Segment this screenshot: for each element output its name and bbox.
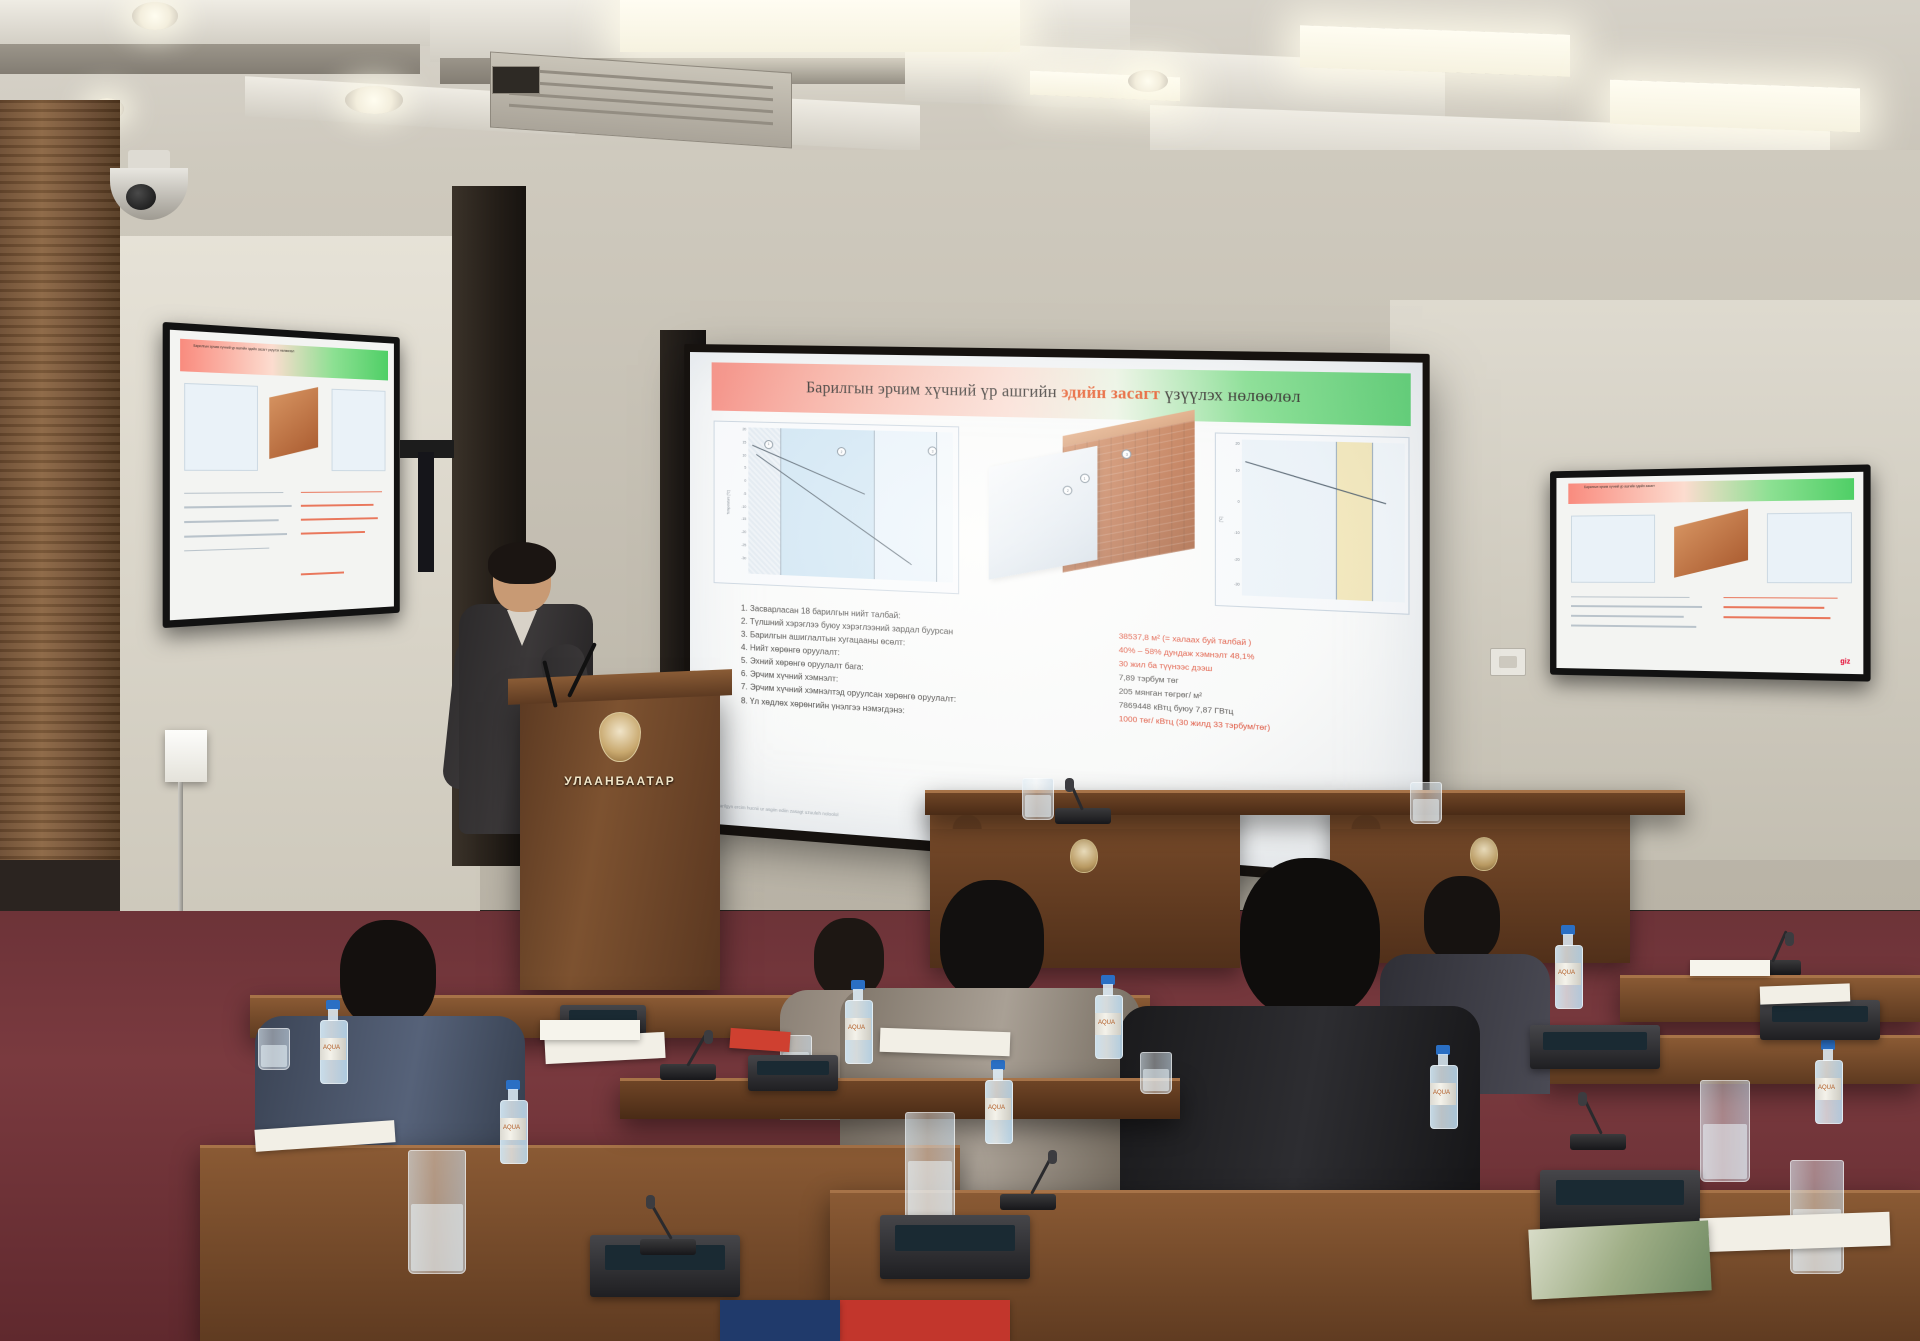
monitor-giz-logo: giz bbox=[1840, 659, 1850, 666]
monitor-arm bbox=[418, 452, 434, 572]
chart-plot-area bbox=[1242, 439, 1405, 603]
slide-title-banner: Барилгын эрчим хүчний үр ашгийн эдийн за… bbox=[711, 363, 1411, 427]
layer-band-inner bbox=[936, 432, 953, 583]
speaker-podium: УЛААНБААТАР bbox=[520, 690, 720, 990]
delegate-console[interactable] bbox=[1760, 1000, 1880, 1040]
y-tick: -30 bbox=[741, 556, 746, 560]
y-tick: -20 bbox=[1234, 558, 1240, 563]
temperature-chart-right: [°C] 20 10 0 -10 -20 -30 bbox=[1214, 433, 1409, 615]
monitor-text-line bbox=[185, 533, 288, 537]
monitor-stat-line bbox=[1723, 616, 1830, 619]
mid-table bbox=[620, 1078, 1180, 1119]
chart-plot-area: 1 2 3 bbox=[748, 427, 953, 583]
monitor-slide-banner: Барилгын эрчим хүчний үр ашгийн эдийн за… bbox=[180, 339, 388, 380]
ceiling-spotlight bbox=[1128, 70, 1168, 92]
monitor-stat-line bbox=[1723, 606, 1824, 608]
monitor-text-line bbox=[1571, 624, 1696, 627]
layer-divider bbox=[874, 430, 875, 579]
monitor-chart-right bbox=[331, 388, 385, 471]
ceiling-light-panel bbox=[1610, 80, 1860, 133]
y-tick: 0 bbox=[1237, 499, 1239, 503]
slide-title-part2: үзүүлэх нөлөөлөл bbox=[1160, 386, 1301, 407]
wall-sign bbox=[165, 730, 207, 782]
security-camera bbox=[110, 150, 188, 220]
brochure[interactable] bbox=[1528, 1220, 1711, 1299]
water-glass[interactable] bbox=[258, 1028, 290, 1070]
document-sheet[interactable] bbox=[880, 1028, 1011, 1057]
bottle-label: AQUA bbox=[320, 1038, 346, 1060]
bottle-label: AQUA bbox=[1815, 1078, 1841, 1100]
document-sheet-blue[interactable] bbox=[720, 1300, 840, 1341]
monitor-stat-line bbox=[301, 491, 382, 493]
callout-marker: 1 bbox=[764, 439, 773, 448]
layer-band-insulation bbox=[1335, 442, 1371, 602]
slide-numbered-list: Засварласан 18 барилгын нийт талбай: Түл… bbox=[737, 601, 1120, 730]
layer-divider bbox=[780, 428, 781, 575]
desk-microphone[interactable] bbox=[640, 1195, 710, 1255]
ceiling-beam bbox=[0, 44, 420, 74]
water-glass[interactable] bbox=[408, 1150, 466, 1274]
monitor-stat-line bbox=[301, 517, 378, 520]
chart-y-axis: [°C] 20 10 0 -10 -20 -30 bbox=[1215, 434, 1241, 606]
slide-title: Барилгын эрчим хүчний үр ашгийн эдийн за… bbox=[806, 379, 1301, 407]
ceiling-spotlight bbox=[345, 86, 403, 114]
y-tick: 20 bbox=[742, 427, 746, 431]
y-tick: -30 bbox=[1234, 582, 1240, 587]
monitor-slide-title: Барилгын эрчим хүчний үр ашгийн эдийн за… bbox=[1584, 484, 1655, 489]
desk-microphone[interactable] bbox=[1570, 1090, 1640, 1150]
microphone-capsule bbox=[646, 1195, 655, 1209]
person-head bbox=[340, 920, 436, 1028]
monitor-stat-line bbox=[301, 504, 374, 507]
y-tick: -10 bbox=[741, 504, 746, 508]
water-glass bbox=[1022, 778, 1054, 820]
bottle-label: AQUA bbox=[985, 1098, 1011, 1120]
y-tick: -20 bbox=[741, 530, 746, 534]
slide-footer: Barilgyn ercim hucnii ur asgiin ediin za… bbox=[717, 803, 839, 817]
monitor-text-line bbox=[1571, 596, 1690, 598]
microphone-capsule bbox=[1785, 932, 1794, 946]
monitor-screen: Барилгын эрчим хүчний үр ашгийн эдийн за… bbox=[1556, 472, 1863, 674]
insulation-layer bbox=[988, 446, 1096, 580]
left-wall-monitor: Барилгын эрчим хүчний үр ашгийн эдийн за… bbox=[163, 322, 400, 628]
microphone-base bbox=[1000, 1194, 1056, 1210]
layer-divider bbox=[1335, 442, 1336, 600]
microphone-base bbox=[1055, 808, 1111, 824]
desk-microphone[interactable] bbox=[1000, 1150, 1070, 1210]
wood-wall-panel bbox=[0, 100, 120, 860]
monitor-stat-line bbox=[301, 572, 344, 576]
person-head bbox=[1240, 858, 1380, 1018]
console-display bbox=[1556, 1180, 1684, 1205]
monitor-slide-title: Барилгын эрчим хүчний үр ашгийн эдийн за… bbox=[193, 344, 294, 354]
wall-assembly-figure: 1 2 3 bbox=[984, 430, 1195, 596]
monitor-chart-left bbox=[185, 383, 258, 472]
water-glass[interactable] bbox=[1700, 1080, 1750, 1182]
y-tick: -25 bbox=[741, 543, 746, 547]
y-tick: 5 bbox=[744, 466, 746, 470]
console-display bbox=[757, 1061, 829, 1075]
monitor-stat-line bbox=[1723, 597, 1837, 599]
city-emblem bbox=[599, 712, 641, 762]
chart-y-label: Temperature [°C] bbox=[727, 490, 731, 514]
monitor-text-line bbox=[185, 547, 270, 551]
monitor-wall-figure bbox=[269, 387, 318, 459]
temperature-chart-left: Temperature [°C] 20 15 10 5 0 -5 -10 -15… bbox=[714, 421, 959, 595]
ceiling-spotlight bbox=[132, 2, 178, 30]
y-tick: 20 bbox=[1235, 441, 1239, 445]
y-tick: -15 bbox=[741, 517, 746, 521]
wall-outlet[interactable] bbox=[1490, 648, 1526, 676]
name-tent-card bbox=[540, 1020, 640, 1040]
microphone-capsule bbox=[1578, 1092, 1587, 1106]
monitor-screen: Барилгын эрчим хүчний үр ашгийн эдийн за… bbox=[170, 330, 394, 621]
layer-band-inner bbox=[1371, 443, 1404, 603]
callout-marker: 1 bbox=[1080, 474, 1090, 484]
person-head bbox=[940, 880, 1044, 1000]
y-tick: -5 bbox=[743, 492, 746, 496]
monitor-chart-right bbox=[1767, 512, 1852, 583]
conference-room-photo: Барилгын эрчим хүчний үр ашгийн эдийн за… bbox=[0, 0, 1920, 1341]
monitor-text-line bbox=[1571, 605, 1702, 607]
slide-title-part1: Барилгын эрчим хүчний үр ашгийн bbox=[806, 379, 1061, 401]
chart-y-axis: Temperature [°C] 20 15 10 5 0 -5 -10 -15… bbox=[715, 422, 748, 584]
y-tick: -10 bbox=[1234, 530, 1240, 534]
y-tick: 10 bbox=[1235, 468, 1239, 472]
monitor-text-line bbox=[185, 505, 292, 508]
document-sheet[interactable] bbox=[1760, 983, 1851, 1004]
delegate-console[interactable] bbox=[1530, 1025, 1660, 1069]
slide-figures: Temperature [°C] 20 15 10 5 0 -5 -10 -15… bbox=[714, 421, 1410, 613]
ceiling-slab bbox=[0, 0, 470, 46]
bottle-label: AQUA bbox=[1095, 1013, 1121, 1035]
layer-divider bbox=[1371, 443, 1372, 602]
right-wall-monitor: Барилгын эрчим хүчний үр ашгийн эдийн за… bbox=[1550, 464, 1871, 681]
delegate-console[interactable] bbox=[880, 1215, 1030, 1279]
water-glass[interactable] bbox=[905, 1112, 955, 1224]
y-tick: 10 bbox=[742, 453, 746, 457]
water-glass[interactable] bbox=[1140, 1052, 1172, 1094]
desk-microphone[interactable] bbox=[660, 1030, 720, 1080]
bottle-label: AQUA bbox=[845, 1018, 871, 1040]
ceiling-light-panel bbox=[620, 0, 1020, 52]
monitor-slide-banner: Барилгын эрчим хүчний үр ашгийн эдийн за… bbox=[1568, 478, 1854, 504]
name-tent-card bbox=[1690, 960, 1770, 976]
camera-lens bbox=[126, 184, 156, 210]
monitor-text-line bbox=[1571, 615, 1684, 618]
console-display bbox=[1543, 1032, 1647, 1050]
microphone-base bbox=[640, 1239, 696, 1255]
console-display bbox=[895, 1225, 1015, 1251]
camera-mount bbox=[128, 150, 170, 170]
monitor-stat-line bbox=[301, 531, 365, 534]
y-tick: 0 bbox=[744, 479, 746, 483]
bottle-label: AQUA bbox=[500, 1118, 526, 1140]
monitor-text-line bbox=[185, 492, 283, 494]
console-display bbox=[1772, 1006, 1868, 1022]
bottle-label: AQUA bbox=[1430, 1083, 1456, 1105]
ceiling-air-vent bbox=[492, 66, 540, 94]
microphone-capsule bbox=[1048, 1150, 1057, 1164]
presenter-hair bbox=[488, 542, 556, 584]
desk-microphone[interactable] bbox=[1055, 778, 1115, 824]
chart-y-label: [°C] bbox=[1218, 516, 1223, 522]
slide-statistics-column: 38537,8 м² (= халаах буй талбай ) 40% – … bbox=[1119, 629, 1405, 743]
monitor-wall-figure bbox=[1675, 509, 1749, 578]
bottle-label: AQUA bbox=[1555, 963, 1581, 985]
microphone-capsule bbox=[1065, 778, 1074, 792]
microphone-base bbox=[1570, 1134, 1626, 1150]
monitor-text-line bbox=[185, 519, 279, 523]
delegate-console[interactable] bbox=[748, 1055, 838, 1091]
water-glass bbox=[1410, 782, 1442, 824]
red-folder[interactable] bbox=[729, 1028, 790, 1052]
document-sheet[interactable] bbox=[1699, 1212, 1890, 1253]
slide-title-highlight: эдийн засагт bbox=[1061, 384, 1160, 404]
layer-divider bbox=[936, 432, 937, 582]
podium-city-label: УЛААНБААТАР bbox=[564, 774, 676, 788]
document-sheet-red[interactable] bbox=[840, 1300, 1010, 1341]
y-tick: 15 bbox=[742, 440, 746, 444]
microphone-capsule bbox=[704, 1030, 713, 1044]
desk-emblem bbox=[1070, 839, 1098, 873]
monitor-chart-left bbox=[1571, 515, 1655, 583]
